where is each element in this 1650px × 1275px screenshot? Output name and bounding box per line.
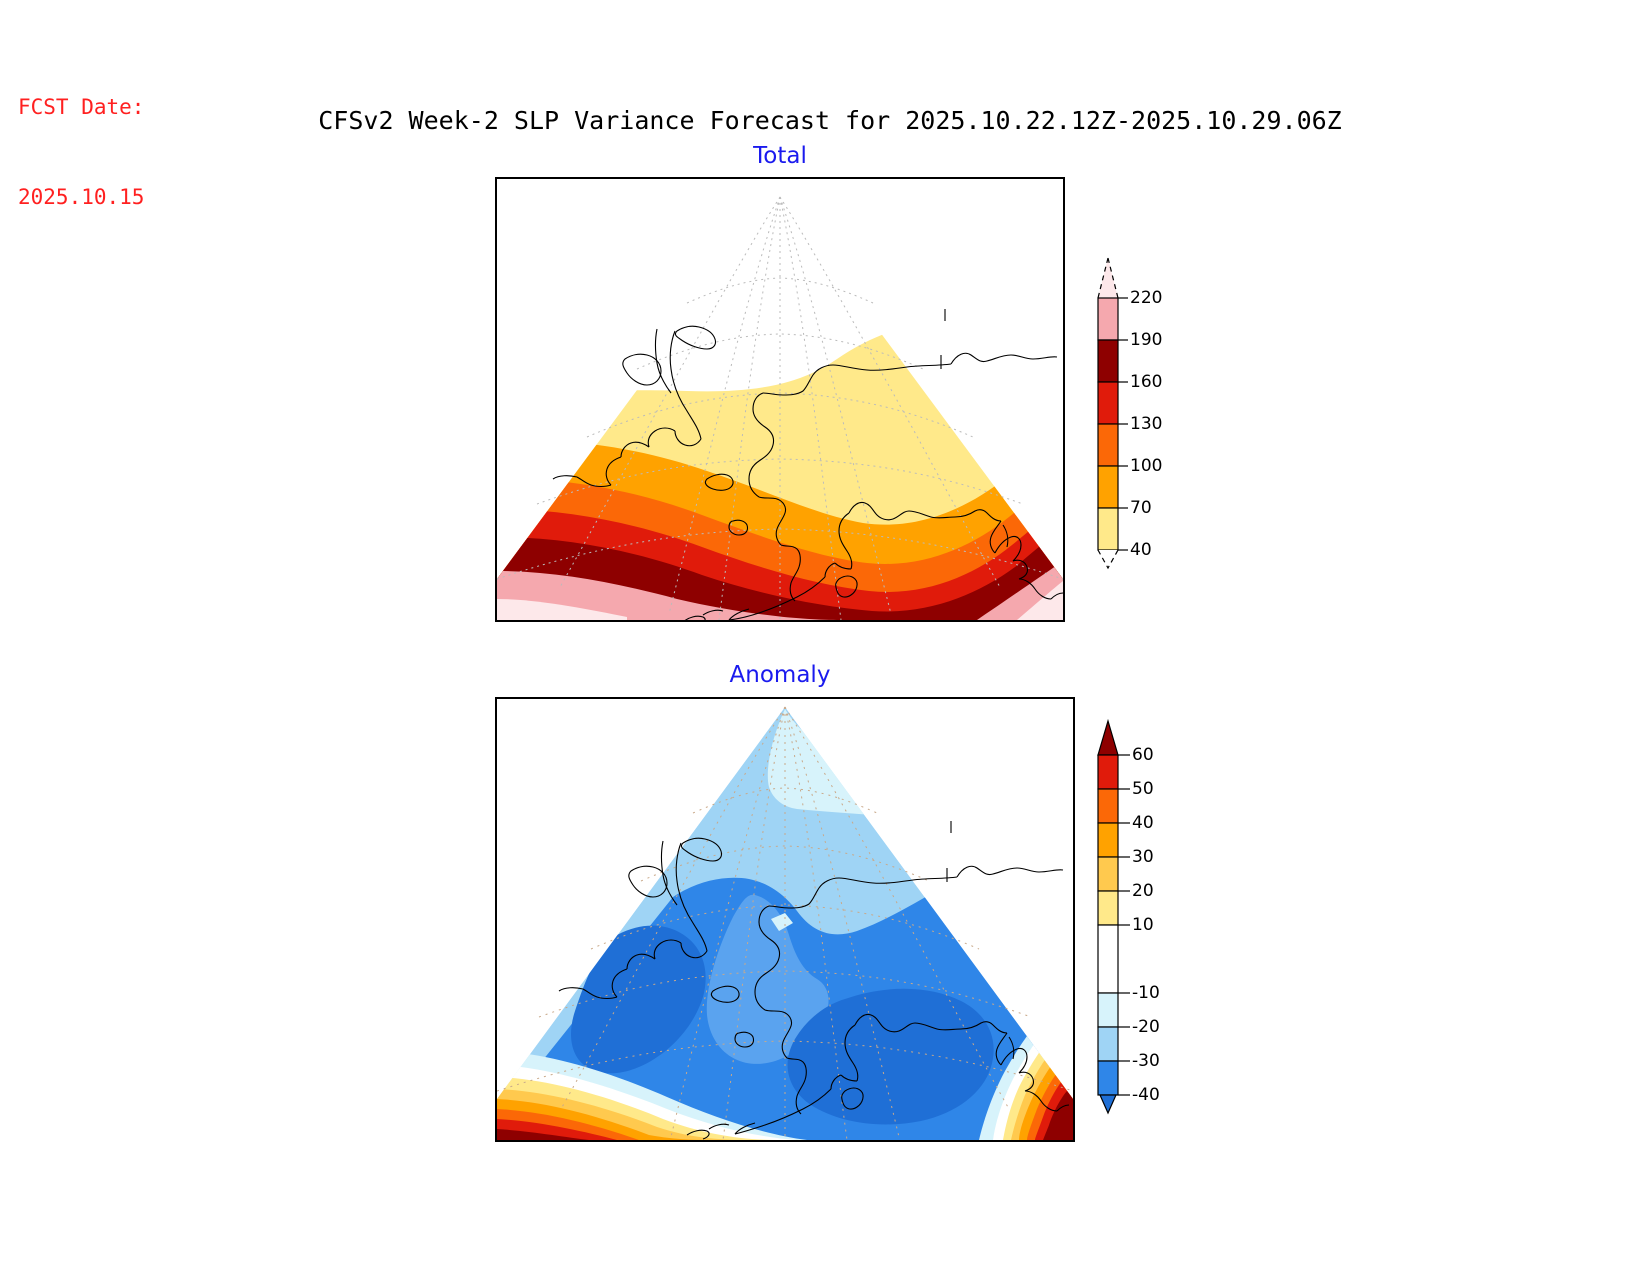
colorbar-total-tick-0: 220 bbox=[1130, 288, 1162, 308]
colorbar-total-tick-4: 100 bbox=[1130, 456, 1162, 476]
colorbar-total-tick-6: 40 bbox=[1130, 540, 1152, 560]
colorbar-anomaly-tick-2: 40 bbox=[1132, 813, 1154, 833]
colorbar-total-tick-3: 130 bbox=[1130, 414, 1162, 434]
colorbar-anomaly-tick-0: 60 bbox=[1132, 745, 1154, 765]
map-panel-anomaly bbox=[495, 697, 1075, 1142]
panel-title-anomaly: Anomaly bbox=[580, 662, 980, 688]
colorbar-anomaly: 60 50 40 30 20 10 -10 -20 -30 -40 bbox=[1090, 715, 1220, 1130]
colorbar-total-tick-1: 190 bbox=[1130, 330, 1162, 350]
colorbar-anomaly-tick-9: -40 bbox=[1132, 1085, 1160, 1105]
colorbar-anomaly-tick-7: -20 bbox=[1132, 1017, 1160, 1037]
forecast-date-label: FCST Date: bbox=[18, 92, 188, 122]
panel-title-total: Total bbox=[580, 143, 980, 169]
colorbar-total-tick-5: 70 bbox=[1130, 498, 1152, 518]
colorbar-total: 220 190 160 130 100 70 40 bbox=[1090, 250, 1210, 570]
map-anomaly-svg bbox=[497, 699, 1073, 1140]
forecast-date-value: 2025.10.15 bbox=[18, 182, 188, 212]
colorbar-anomaly-tick-5: 10 bbox=[1132, 915, 1154, 935]
map-panel-total bbox=[495, 177, 1065, 622]
colorbar-total-tick-2: 160 bbox=[1130, 372, 1162, 392]
forecast-date-block: FCST Date: 2025.10.15 bbox=[18, 32, 188, 242]
colorbar-anomaly-tick-6: -10 bbox=[1132, 983, 1160, 1003]
colorbar-anomaly-tick-3: 30 bbox=[1132, 847, 1154, 867]
colorbar-anomaly-tick-8: -30 bbox=[1132, 1051, 1160, 1071]
colorbar-anomaly-tick-1: 50 bbox=[1132, 779, 1154, 799]
colorbar-anomaly-tick-4: 20 bbox=[1132, 881, 1154, 901]
chart-title-line1: CFSv2 Week-2 SLP Variance Forecast for 2… bbox=[175, 102, 1485, 139]
map-total-svg bbox=[497, 179, 1063, 620]
